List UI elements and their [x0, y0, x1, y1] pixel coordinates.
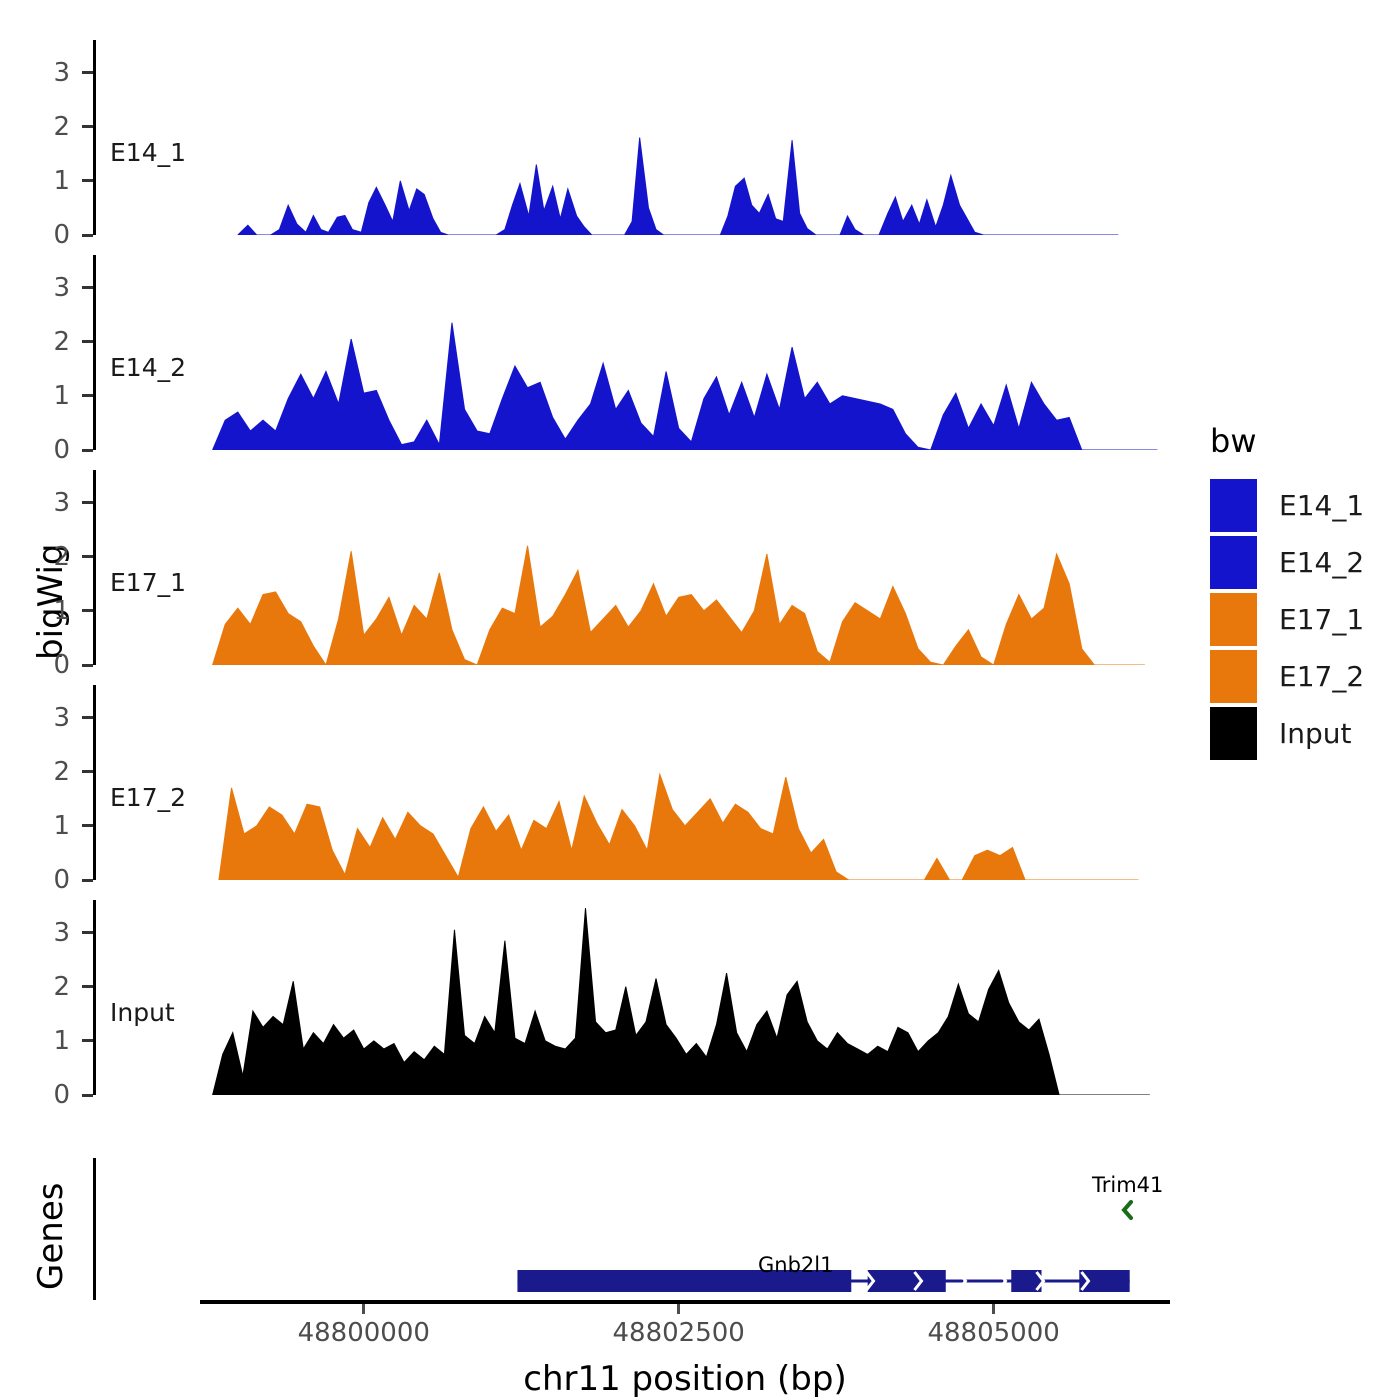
legend-swatch-icon — [1210, 650, 1257, 703]
coverage-area-e14_2 — [0, 255, 1200, 450]
x-tick-label: 48802500 — [579, 1320, 779, 1346]
legend-swatch-icon — [1210, 479, 1257, 532]
legend-label: E14_2 — [1279, 549, 1364, 577]
legend-swatch-icon — [1210, 593, 1257, 646]
track-panel-e17_2: 0123E17_2 — [0, 685, 1200, 880]
legend-swatch-icon — [1210, 536, 1257, 589]
track-panel-input: 0123Input — [0, 900, 1200, 1095]
legend-swatch-icon — [1210, 707, 1257, 760]
track-panel-e14_1: 0123E14_1 — [0, 40, 1200, 235]
gene-strand-arrow-icon — [460, 1272, 467, 1290]
legend-label: E17_1 — [1279, 606, 1364, 634]
coverage-area-e17_1 — [0, 470, 1200, 665]
x-tick-label: 48800000 — [264, 1320, 464, 1346]
legend: bw E14_1E14_2E17_1E17_2Input — [1210, 425, 1390, 762]
x-tick-mark — [362, 1304, 365, 1314]
legend-label: E17_2 — [1279, 663, 1364, 691]
coverage-area-e14_1 — [0, 40, 1200, 235]
coverage-area-e17_2 — [0, 685, 1200, 880]
legend-item-e14_2[interactable]: E14_2 — [1210, 534, 1390, 591]
trim41-strand-arrow-icon — [1124, 1202, 1131, 1218]
gene-model-graphic[interactable] — [0, 1150, 1200, 1310]
legend-item-e17_1[interactable]: E17_1 — [1210, 591, 1390, 648]
gene-label-trim41: Trim41 — [1092, 1175, 1163, 1196]
legend-label: E14_1 — [1279, 492, 1364, 520]
x-tick-mark — [677, 1304, 680, 1314]
track-panel-e17_1: 0123E17_1 — [0, 470, 1200, 665]
legend-item-e17_2[interactable]: E17_2 — [1210, 648, 1390, 705]
legend-item-input[interactable]: Input — [1210, 705, 1390, 762]
x-axis-line — [200, 1300, 1170, 1304]
x-tick-label: 48805000 — [894, 1320, 1094, 1346]
x-tick-mark — [992, 1304, 995, 1314]
genes-axis-line — [93, 1158, 96, 1300]
x-axis-title: chr11 position (bp) — [385, 1362, 985, 1396]
coverage-area-input — [0, 900, 1200, 1095]
legend-label: Input — [1279, 720, 1352, 748]
track-panel-e14_2: 0123E14_2 — [0, 255, 1200, 450]
legend-items: E14_1E14_2E17_1E17_2Input — [1210, 477, 1390, 762]
gene-label-gnb2l1: Gnb2l1 — [758, 1255, 833, 1276]
legend-item-e14_1[interactable]: E14_1 — [1210, 477, 1390, 534]
genes-panel: Gnb2l1 Trim41 — [0, 1150, 1200, 1310]
gene-exon — [868, 1270, 946, 1292]
legend-title: bw — [1210, 425, 1390, 457]
x-axis: 488000004880250048805000 chr11 position … — [0, 1300, 1200, 1400]
